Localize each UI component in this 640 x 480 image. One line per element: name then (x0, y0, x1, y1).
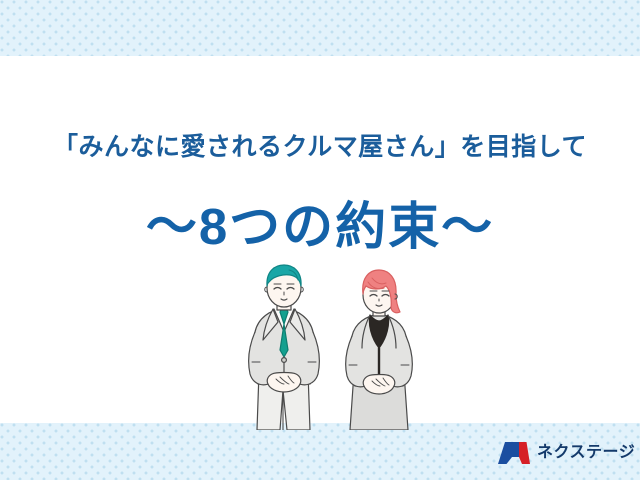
nextage-brand-name: ネクステージ (537, 445, 635, 461)
promo-banner: 「みんなに愛されるクルマ屋さん」を目指して 〜8つの約束〜 (0, 0, 640, 480)
bowing-staff-illustration (232, 262, 432, 430)
man-figure (249, 265, 320, 430)
subheadline-text: 「みんなに愛されるクルマ屋さん」を目指して (0, 127, 640, 163)
headline-text: 〜8つの約束〜 (0, 185, 640, 259)
nextage-logo[interactable]: ネクステージ (497, 440, 635, 466)
top-dotted-band (0, 0, 640, 56)
nextage-n-mark-icon (497, 440, 531, 466)
woman-figure (346, 270, 413, 430)
